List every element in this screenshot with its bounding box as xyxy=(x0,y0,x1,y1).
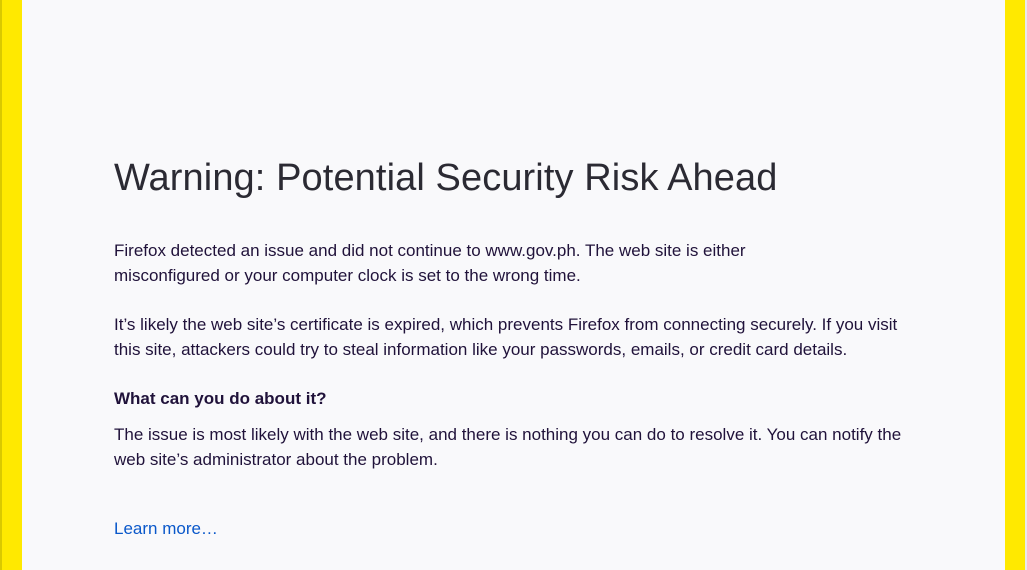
advice-paragraph: The issue is most likely with the web si… xyxy=(114,422,906,472)
page-title: Warning: Potential Security Risk Ahead xyxy=(114,155,778,201)
error-content: Warning: Potential Security Risk Ahead F… xyxy=(114,0,914,570)
error-description-paragraph-1: Firefox detected an issue and did not co… xyxy=(114,238,824,288)
left-warning-band xyxy=(2,0,22,570)
certificate-error-page: Warning: Potential Security Risk Ahead F… xyxy=(0,0,1027,570)
what-can-you-do-heading: What can you do about it? xyxy=(114,386,909,411)
error-description-paragraph-2: It’s likely the web site’s certificate i… xyxy=(114,312,906,362)
error-body: Firefox detected an issue and did not co… xyxy=(114,238,909,541)
right-warning-band xyxy=(1005,0,1025,570)
learn-more-link[interactable]: Learn more… xyxy=(114,516,218,541)
